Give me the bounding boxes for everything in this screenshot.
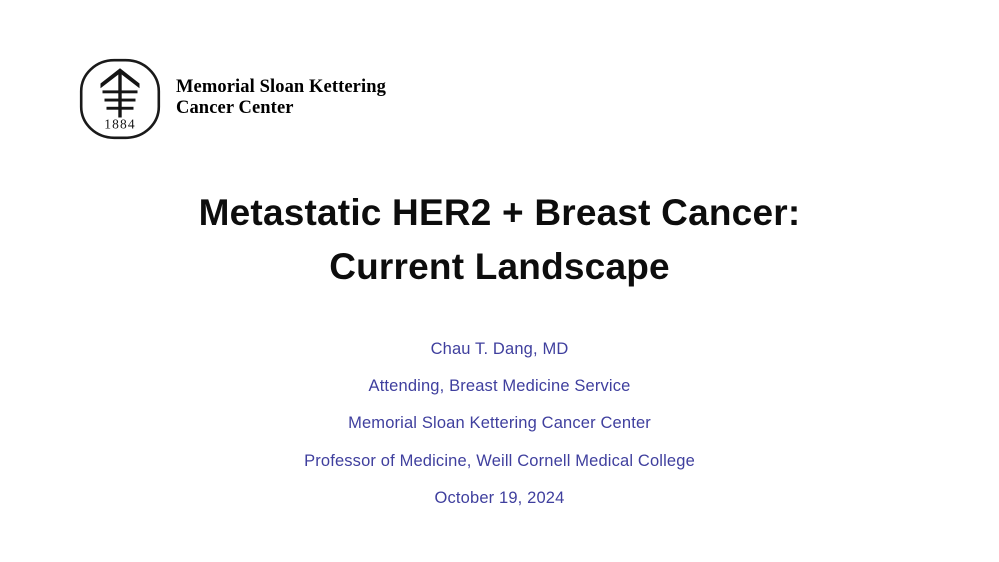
presentation-date: October 19, 2024 xyxy=(0,480,999,517)
institution-wordmark: Memorial Sloan Kettering Cancer Center xyxy=(176,77,386,120)
page-title: Metastatic HER2 + Breast Cancer: Current… xyxy=(0,186,999,294)
title-line-2: Current Landscape xyxy=(0,240,999,294)
presenter-academic-title: Professor of Medicine, Weill Cornell Med… xyxy=(0,443,999,480)
presenter-details: Chau T. Dang, MD Attending, Breast Medic… xyxy=(0,331,999,517)
msk-arrow-emblem-icon: 1884 xyxy=(78,57,162,141)
institution-logo: 1884 Memorial Sloan Kettering Cancer Cen… xyxy=(78,57,386,141)
title-line-1: Metastatic HER2 + Breast Cancer: xyxy=(0,186,999,240)
emblem-year-text: 1884 xyxy=(104,117,135,132)
title-slide: 1884 Memorial Sloan Kettering Cancer Cen… xyxy=(0,0,999,562)
presenter-name: Chau T. Dang, MD xyxy=(0,331,999,368)
presenter-role: Attending, Breast Medicine Service xyxy=(0,368,999,405)
presenter-institution: Memorial Sloan Kettering Cancer Center xyxy=(0,405,999,442)
